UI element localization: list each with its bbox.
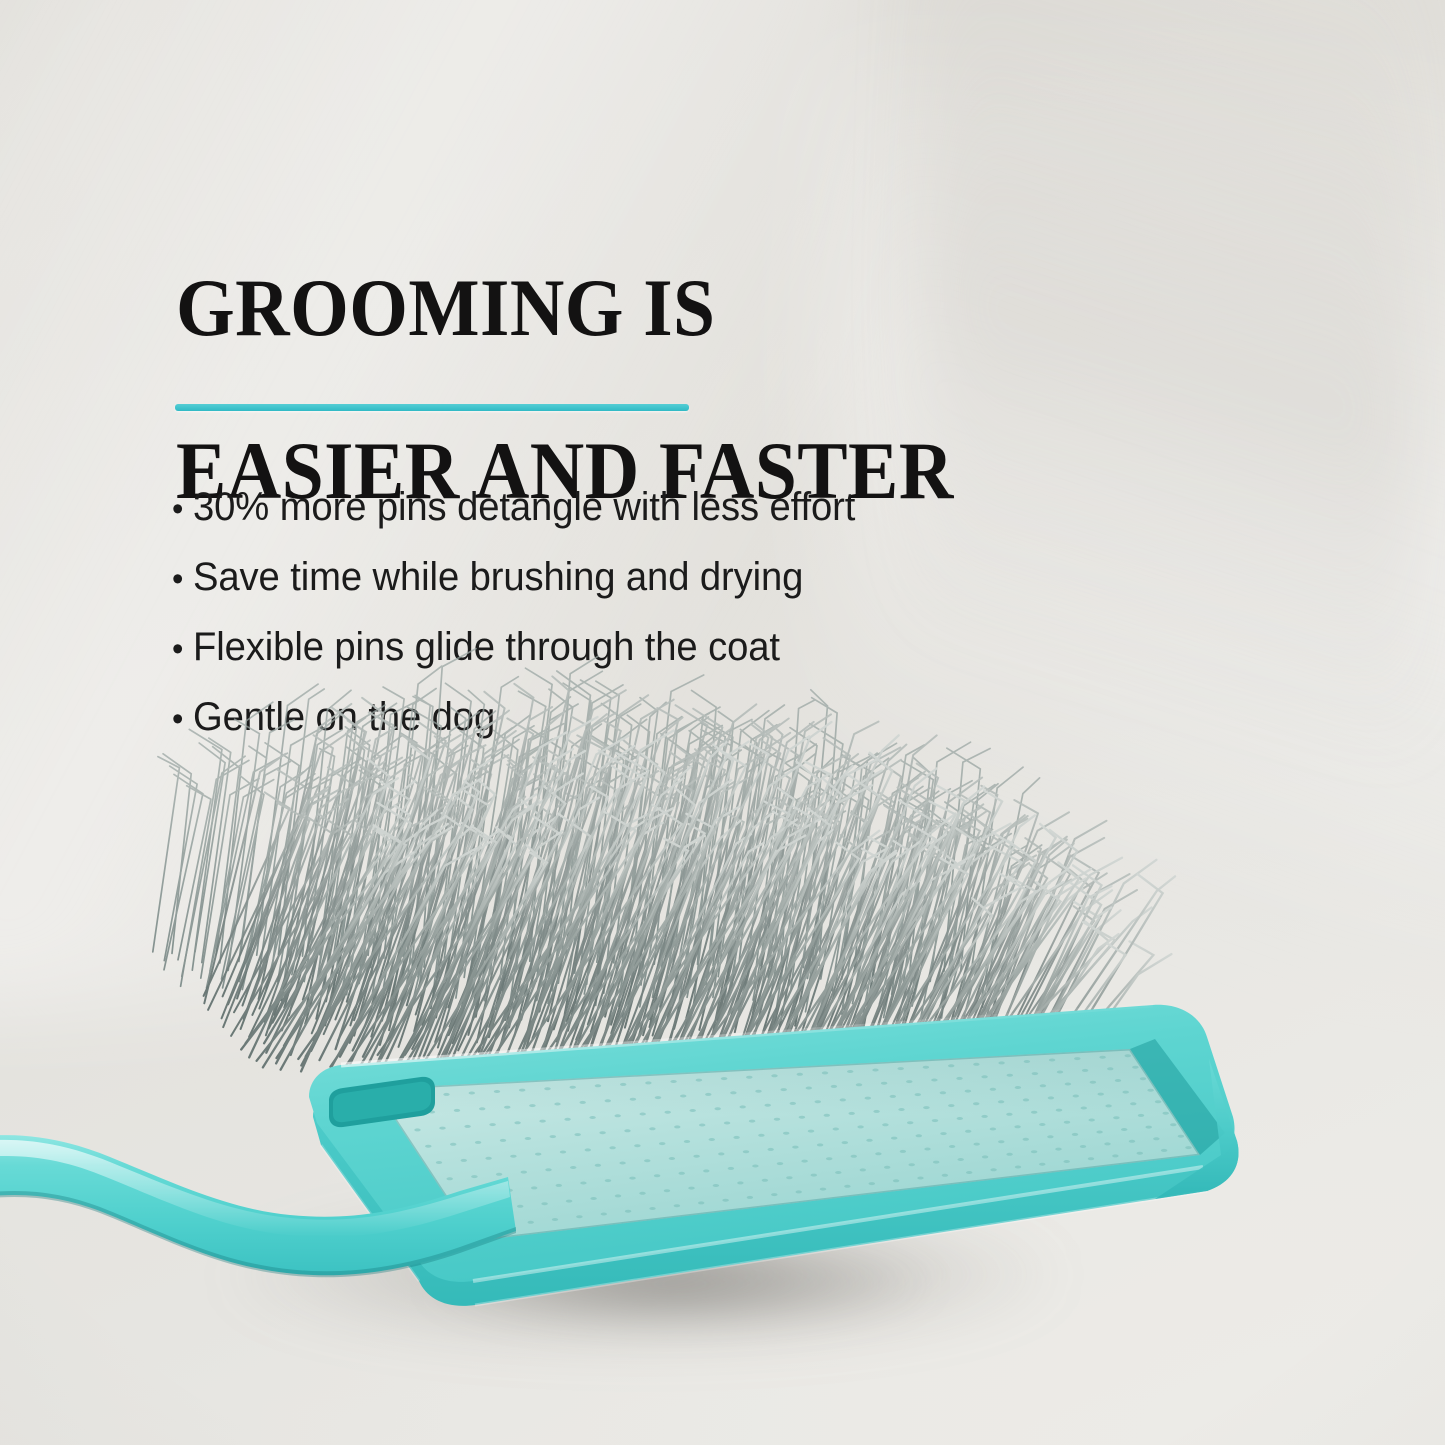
pad-pin-hole <box>747 1196 753 1199</box>
pad-pin-hole <box>674 1125 680 1128</box>
brush-pin <box>537 778 618 1001</box>
pad-pin-hole <box>541 1202 547 1205</box>
pad-pin-hole <box>693 1155 699 1158</box>
brush-pin <box>333 727 370 992</box>
brush-pin <box>390 754 470 1005</box>
brush-pin <box>602 755 696 1044</box>
brush-pin <box>918 815 1025 1031</box>
brush-pin <box>753 754 816 1000</box>
brush-pin <box>241 720 294 954</box>
pad-pin-hole <box>990 1168 996 1171</box>
brush-pin <box>453 757 563 1043</box>
pad-pin-hole <box>808 1130 814 1133</box>
pad-pin-hole <box>940 1132 946 1135</box>
brush-pin <box>567 767 687 1021</box>
brush-pin <box>844 806 917 1039</box>
brush-pin <box>433 707 466 997</box>
brush-pin <box>505 690 626 1020</box>
pad-pin-hole <box>705 1093 711 1096</box>
pad-pin-hole <box>665 1111 671 1114</box>
pad-pin-hole <box>599 1131 605 1134</box>
brush-pin <box>204 754 285 1004</box>
pad-pin-hole <box>917 1177 923 1180</box>
brush-pin <box>223 790 338 1027</box>
brush-pin <box>945 802 970 983</box>
pad-pin-hole <box>609 1146 615 1149</box>
brush-pin <box>637 709 723 1044</box>
pad-pin-hole <box>1088 1157 1094 1160</box>
brush-pin <box>729 789 844 1021</box>
brush-pin <box>796 811 845 1002</box>
pad-pin-hole <box>619 1162 625 1165</box>
pad-pin-hole <box>521 1171 527 1174</box>
brush-pin <box>449 795 580 1036</box>
pad-pin-hole <box>649 1127 655 1130</box>
pad-pin-hole <box>1155 1100 1161 1103</box>
pad-pin-hole <box>844 1185 850 1188</box>
pad-pin-hole <box>1039 1163 1045 1166</box>
brush-pin <box>222 762 291 980</box>
brush-pin <box>500 738 555 979</box>
brush-pin <box>395 765 487 1022</box>
brush-pin <box>738 795 812 1010</box>
brush-pin <box>611 705 707 1033</box>
brush-pin <box>795 738 850 1026</box>
pad-pin-hole <box>1014 1125 1020 1128</box>
pad-pin-hole <box>674 1204 680 1207</box>
pad-pin-hole <box>615 1114 621 1117</box>
pad-pin-hole <box>990 1088 996 1091</box>
brush-pin <box>354 735 430 1036</box>
brush-pin <box>934 786 997 1041</box>
brush-pin <box>684 750 741 975</box>
brush-pin <box>629 757 690 996</box>
brush-pin <box>728 745 772 997</box>
brush-pin <box>164 774 203 969</box>
pad-pin-hole <box>835 1171 841 1174</box>
pad-pin-hole <box>958 1158 964 1161</box>
brush-pin <box>289 761 385 1015</box>
brush-pin <box>418 756 457 977</box>
brush-pin <box>548 754 628 1021</box>
brush-pin <box>312 816 410 1033</box>
brush-pin <box>332 733 364 965</box>
brush-pin <box>625 728 732 1027</box>
brush-pin <box>347 737 422 1002</box>
pad-pin-hole <box>605 1099 611 1102</box>
brush-pin <box>533 803 632 1039</box>
brush-pin <box>315 703 397 993</box>
brush-pin <box>354 771 456 1020</box>
pad-pin-hole <box>690 1109 696 1112</box>
pad-pin-hole <box>869 1182 875 1185</box>
pad-pin-hole <box>1161 1149 1167 1152</box>
pad-pin-hole <box>1123 1091 1129 1094</box>
pad-pin-hole <box>494 1090 500 1093</box>
pad-pin-hole <box>1105 1104 1111 1107</box>
pad-pin-hole <box>740 1105 746 1108</box>
brush-pin <box>672 731 717 997</box>
brush-pin <box>306 708 365 1011</box>
brush-pin <box>770 761 809 1000</box>
pad-pin-hole <box>585 1148 591 1151</box>
brush-pin <box>643 704 756 1035</box>
pad-pin-hole <box>792 1146 798 1149</box>
pad-pin-hole <box>956 1077 962 1080</box>
pad-pin-hole <box>669 1157 675 1160</box>
pad-pin-hole <box>817 1143 823 1146</box>
pad-pin-hole <box>940 1091 946 1094</box>
pad-pin-hole <box>552 1218 558 1221</box>
pad-pin-hole <box>539 1120 545 1123</box>
brush-pin <box>338 789 459 1041</box>
pad-pin-hole <box>973 1063 979 1066</box>
brush-pin <box>970 767 1024 984</box>
brush-pin <box>841 754 901 1026</box>
brush-pin <box>667 775 720 1019</box>
brush-pin <box>195 743 225 952</box>
pad-pin-hole <box>884 1166 890 1169</box>
bullet-icon: • <box>172 702 193 736</box>
brush-pin <box>724 729 758 1010</box>
pad-pin-hole <box>1055 1148 1061 1151</box>
brush-pin <box>732 705 785 987</box>
pad-pin-hole <box>1098 1093 1104 1096</box>
pad-pin-hole <box>898 1108 904 1111</box>
pad-pin-hole <box>820 1188 826 1191</box>
pad-pin-hole <box>875 1152 881 1155</box>
brush-pin <box>490 739 552 958</box>
pad-pin-hole <box>1065 1083 1071 1086</box>
brush-pin <box>258 728 322 981</box>
pad-pin-hole <box>1031 1111 1037 1114</box>
brush-pin <box>243 803 310 1006</box>
brush-pin <box>611 788 679 1024</box>
brush-pin <box>372 754 425 975</box>
brush-pin <box>548 774 623 1003</box>
brush-pin <box>456 728 512 998</box>
brush-pin <box>389 734 473 1030</box>
brush-pin <box>807 757 869 1002</box>
brush-pin <box>762 722 878 1035</box>
pad-pin-hole <box>605 1179 611 1182</box>
brush-pin <box>343 767 386 985</box>
pad-pin-hole <box>544 1087 550 1090</box>
brush-pin <box>471 715 530 970</box>
brush-pin <box>453 739 519 967</box>
brush-pin <box>241 799 348 1029</box>
pad-pin-hole <box>933 1161 939 1164</box>
brush-pin <box>472 757 542 978</box>
brush-pin <box>336 746 430 1050</box>
pad-pin-hole <box>595 1084 601 1087</box>
brush-pin <box>935 829 992 995</box>
brush-pin <box>552 777 607 991</box>
brush-pin <box>283 714 342 990</box>
brush-pin <box>231 814 351 1036</box>
brush-pin <box>818 793 895 1025</box>
brush-pin <box>249 781 392 1037</box>
pad-pin-hole <box>576 1215 582 1218</box>
brush-pin <box>325 705 385 984</box>
pad-pin-hole <box>535 1153 541 1156</box>
brush-pin <box>379 795 455 1012</box>
brush-pin <box>706 712 733 986</box>
brush-pin <box>207 753 288 988</box>
brush-pin <box>730 739 763 963</box>
bullet-icon: • <box>172 492 193 526</box>
brush-pin <box>523 735 602 1011</box>
pad-pin-hole <box>645 1081 651 1084</box>
brush-pin <box>202 738 231 962</box>
pad-pin-hole <box>998 1061 1004 1064</box>
brush-pin <box>621 698 658 975</box>
brush-pin <box>326 698 384 1002</box>
pad-pin-hole <box>1137 1152 1143 1155</box>
pad-pin-hole <box>932 1119 938 1122</box>
brush-pin <box>832 778 868 1002</box>
brush-pin <box>359 716 394 975</box>
brush-pin <box>568 700 674 1031</box>
brush-pin <box>801 745 906 1034</box>
pad-pin-hole <box>796 1190 802 1193</box>
brush-pin <box>556 737 645 1041</box>
brush-pin <box>338 766 396 973</box>
brush-pin <box>372 760 461 1003</box>
pad-pin-hole <box>998 1100 1004 1103</box>
brush-pin <box>473 761 524 1009</box>
brush-pin <box>349 735 404 966</box>
brush-pin <box>958 830 997 1008</box>
brush-pin <box>699 805 802 1038</box>
pad-pin-hole <box>872 1069 878 1072</box>
pad-pin-hole <box>733 1136 739 1139</box>
pad-pin-hole <box>865 1097 871 1100</box>
brush-pin <box>266 775 377 1036</box>
brush-pin <box>554 771 659 1029</box>
pad-pin-hole <box>1048 1096 1054 1099</box>
pad-pin-hole <box>639 1192 645 1195</box>
brush-pin <box>425 718 534 1033</box>
benefit-text: 30% more pins detangle with less effort <box>193 487 855 527</box>
brush-pin <box>781 700 814 967</box>
pad-pin-hole <box>948 1064 954 1067</box>
pad-pin-hole <box>998 1140 1004 1143</box>
brush-handle <box>0 1105 520 1335</box>
pad-pin-hole <box>664 1189 670 1192</box>
pad-pin-hole <box>1146 1126 1152 1129</box>
pad-pin-hole <box>570 1166 576 1169</box>
pad-pin-hole <box>1113 1116 1119 1119</box>
pad-pin-hole <box>659 1142 665 1145</box>
brush-pin <box>819 811 868 1012</box>
brush-pin <box>588 748 705 1025</box>
brush-pin <box>239 777 318 981</box>
brush-pin <box>470 747 541 990</box>
pad-pin-hole <box>990 1128 996 1131</box>
brush-pin <box>431 755 509 1008</box>
brush-pin <box>402 695 430 977</box>
brush-pin <box>687 730 732 998</box>
pad-pin-hole <box>715 1107 721 1110</box>
brush-pin <box>472 726 534 999</box>
pad-pin-hole <box>1064 1121 1070 1124</box>
pad-pin-hole <box>1073 1095 1079 1098</box>
pad-pin-hole <box>882 1123 888 1126</box>
brush-pin <box>265 813 365 1022</box>
pad-pin-hole <box>654 1174 660 1177</box>
brush-pin <box>419 746 467 989</box>
brush-pin <box>406 707 441 987</box>
brush-pin <box>853 773 922 1004</box>
brush-pin <box>164 766 197 961</box>
brush-pin <box>228 719 259 970</box>
pad-pin-hole <box>966 1171 972 1174</box>
pad-pin-hole <box>1107 1067 1113 1070</box>
bullet-icon: • <box>172 632 193 666</box>
brush-pin <box>477 712 564 1042</box>
brush-pin <box>783 760 901 1044</box>
pad-pin-hole <box>1096 1131 1102 1134</box>
pad-pin-hole <box>1163 1112 1169 1115</box>
brush-pin <box>863 821 921 1017</box>
brush-pin <box>393 742 435 996</box>
brush-pin <box>303 758 402 1000</box>
pad-pin-hole <box>786 1176 792 1179</box>
pad-pin-hole <box>765 1104 771 1107</box>
brush-pin <box>576 777 700 1040</box>
brush-pin <box>273 820 373 1023</box>
brush-pin <box>436 692 505 1018</box>
brush-pin <box>661 726 722 974</box>
brush-pin <box>605 708 678 1017</box>
brush-pin <box>718 753 776 977</box>
pad-pin-hole <box>679 1172 685 1175</box>
brush-pin <box>810 773 841 991</box>
pad-pin-hole <box>1104 1142 1110 1145</box>
brush-pin <box>223 769 310 996</box>
pad-pin-hole <box>973 1102 979 1105</box>
brush-pin <box>530 704 578 961</box>
brush-pin <box>598 719 647 973</box>
brush-pin <box>682 741 781 1040</box>
brush-pin <box>500 713 616 1047</box>
brush-pin <box>182 756 245 976</box>
list-item: • Gentle on the dog <box>172 697 1032 737</box>
brush-pin <box>884 805 916 995</box>
pad-pin-hole <box>1081 1107 1087 1110</box>
pad-pin-hole <box>730 1091 736 1094</box>
brush-pin <box>688 746 723 985</box>
pad-pin-hole <box>696 1079 702 1082</box>
brush-pin <box>653 734 695 998</box>
brush-pin <box>903 818 976 1018</box>
pad-pin-hole <box>898 1067 904 1070</box>
brush-pin <box>204 792 290 996</box>
brush-pin <box>468 772 567 1035</box>
pad-pin-hole <box>629 1177 635 1180</box>
pad-pin-hole <box>1047 1135 1053 1138</box>
brush-pin <box>982 778 1040 995</box>
pad-pin-hole <box>575 1133 581 1136</box>
brush-pin <box>912 820 954 1006</box>
brush-pin <box>222 790 328 1018</box>
brush-pin <box>422 756 546 1025</box>
brush-pin <box>944 749 990 972</box>
brush-pin <box>901 761 933 982</box>
pad-pin-hole <box>833 1128 839 1131</box>
pad-pin-hole <box>699 1124 705 1127</box>
brush-pin <box>359 755 412 983</box>
accent-divider <box>175 404 689 411</box>
pad-pin-hole <box>649 1207 655 1210</box>
brush-pin <box>879 812 925 1004</box>
brush-pin <box>759 748 784 965</box>
pad-pin-hole <box>1125 1054 1131 1057</box>
brush-pin <box>269 802 401 1029</box>
brush-pin <box>947 748 980 971</box>
brush-pin <box>314 763 447 1041</box>
brush-pin <box>674 724 780 1029</box>
brush-pin <box>735 738 799 1033</box>
brush-pin <box>153 757 180 952</box>
brush-pin <box>234 814 333 1013</box>
pad-pin-hole <box>1138 1114 1144 1117</box>
brush-pin <box>616 737 730 1044</box>
benefit-text: Save time while brushing and drying <box>193 557 803 597</box>
brush-pin <box>372 733 417 994</box>
brush-pin <box>459 755 522 1018</box>
brush-pin <box>918 742 971 970</box>
brush-pin <box>266 795 327 989</box>
pad-pin-hole <box>831 1085 837 1088</box>
brush-pin <box>758 788 819 1010</box>
brush-pin <box>884 789 951 1018</box>
pad-pin-hole <box>529 1104 535 1107</box>
brush-pin <box>414 772 488 997</box>
brush-pin <box>869 788 930 979</box>
brush-pin <box>808 724 843 979</box>
pad-pin-hole <box>528 1221 534 1224</box>
brush-pin <box>579 781 659 1016</box>
brush-pin <box>660 773 727 1007</box>
brush-pin <box>622 715 650 983</box>
pad-pin-hole <box>519 1089 525 1092</box>
brush-pin <box>870 745 924 993</box>
brush-pin <box>776 728 817 1012</box>
pad-pin-hole <box>755 1090 761 1093</box>
brush-pin <box>502 691 545 990</box>
pad-pin-hole <box>624 1129 630 1132</box>
pad-pin-hole <box>550 1135 556 1138</box>
brush-pin <box>653 778 748 1036</box>
brush-pin <box>633 717 682 964</box>
pad-pin-hole <box>840 1098 846 1101</box>
brush-pin <box>265 743 299 963</box>
pad-pin-hole <box>931 1079 937 1082</box>
brush-pin <box>325 764 391 1025</box>
bullet-icon: • <box>172 562 193 596</box>
brush-pin <box>640 717 709 1007</box>
pad-pin-hole <box>981 1075 987 1078</box>
pad-pin-hole <box>1080 1145 1086 1148</box>
pad-pin-hole <box>1032 1072 1038 1075</box>
brush-pin <box>305 739 381 1024</box>
brush-pin <box>220 702 273 963</box>
brush-pin <box>709 721 772 1051</box>
pad-pin-hole <box>856 1083 862 1086</box>
pad-pin-hole <box>709 1138 715 1141</box>
